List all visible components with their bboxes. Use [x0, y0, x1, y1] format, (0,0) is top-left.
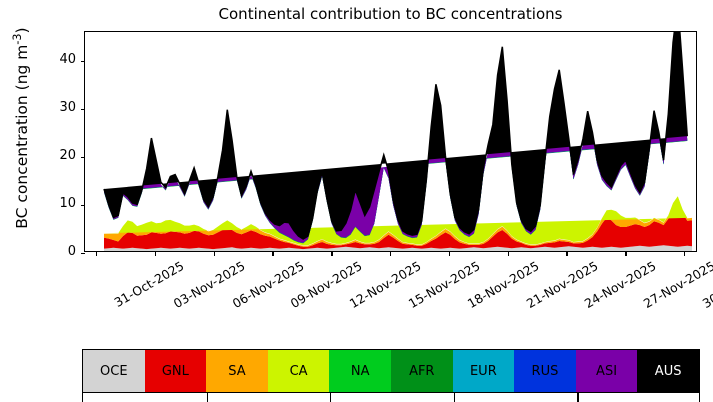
- y-tick-label: 20: [38, 148, 76, 163]
- legend-item-ca[interactable]: CA: [268, 350, 330, 392]
- legend-tail-divider: [207, 393, 208, 402]
- legend-item-asi[interactable]: ASI: [576, 350, 638, 392]
- y-tick-label: 0: [38, 244, 76, 259]
- y-tick-label: 40: [38, 52, 76, 67]
- x-tick-mark: [272, 251, 273, 256]
- legend-item-gnl[interactable]: GNL: [145, 350, 207, 392]
- x-tick-mark: [625, 251, 626, 256]
- x-tick-mark: [96, 251, 97, 256]
- legend-item-na[interactable]: NA: [329, 350, 391, 392]
- x-tick-mark: [214, 251, 215, 256]
- legend-item-afr[interactable]: AFR: [391, 350, 453, 392]
- y-tick-mark: [81, 205, 86, 206]
- legend-item-aus[interactable]: AUS: [637, 350, 699, 392]
- legend: OCEGNLSACANAAFREURRUSASIAUS: [82, 349, 700, 393]
- chart-figure: Continental contribution to BC concentra…: [0, 0, 713, 402]
- y-axis-label-text: BC concentration (ng m-3): [11, 0, 31, 363]
- y-tick-mark: [81, 61, 86, 62]
- x-tick-mark: [390, 251, 391, 256]
- x-tick-mark: [566, 251, 567, 256]
- plot-area: [84, 31, 697, 252]
- legend-item-oce[interactable]: OCE: [83, 350, 145, 392]
- x-tick-mark: [684, 251, 685, 256]
- legend-item-eur[interactable]: EUR: [453, 350, 515, 392]
- y-tick-mark: [81, 109, 86, 110]
- y-tick-mark: [81, 157, 86, 158]
- x-tick-mark: [331, 251, 332, 256]
- x-tick-mark: [449, 251, 450, 256]
- legend-tail-divider: [577, 393, 578, 402]
- plot-clip: [85, 32, 696, 251]
- legend-item-sa[interactable]: SA: [206, 350, 268, 392]
- x-tick-mark: [508, 251, 509, 256]
- chart-title: Continental contribution to BC concentra…: [84, 4, 697, 24]
- total-outline: [104, 32, 687, 239]
- y-tick-mark: [81, 253, 86, 254]
- stacked-area-plot: [85, 32, 696, 251]
- x-tick-mark: [155, 251, 156, 256]
- legend-tail: [82, 393, 700, 402]
- legend-tail-divider: [454, 393, 455, 402]
- y-tick-label: 10: [38, 196, 76, 211]
- y-tick-label: 30: [38, 100, 76, 115]
- legend-tail-divider: [330, 393, 331, 402]
- legend-item-rus[interactable]: RUS: [514, 350, 576, 392]
